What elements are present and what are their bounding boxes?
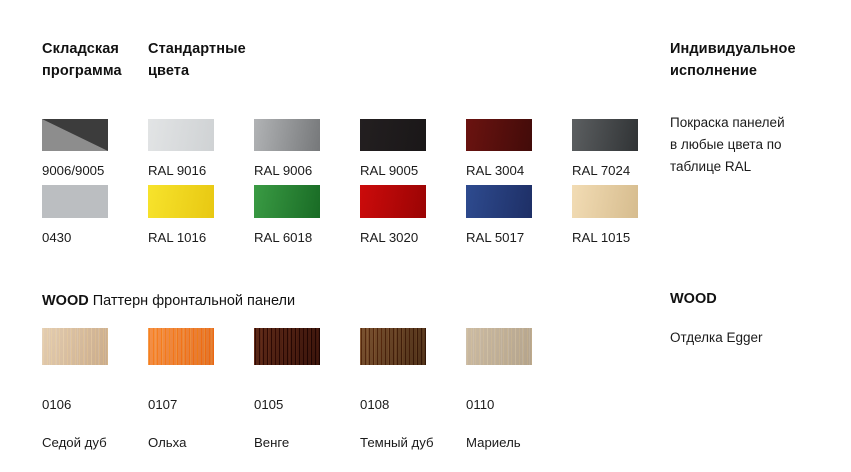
- color-chip-label: RAL 5017: [466, 228, 572, 247]
- color-chip[interactable]: [148, 185, 214, 218]
- wood-chip-name: Седой дуб: [42, 433, 148, 452]
- color-chip[interactable]: [572, 119, 638, 151]
- swatch-item[interactable]: RAL 3004: [466, 119, 572, 180]
- custom-execution-heading: Индивидуальное исполнение: [670, 38, 850, 83]
- wood-chip[interactable]: [148, 328, 214, 365]
- swatch-item[interactable]: 9006/9005: [42, 119, 148, 180]
- color-chip-label: RAL 9016: [148, 161, 254, 180]
- color-chip[interactable]: [42, 185, 108, 218]
- swatch-item[interactable]: RAL 7024: [572, 119, 678, 180]
- color-chip-label: RAL 3004: [466, 161, 572, 180]
- wood-swatch-row: 0106 Седой дуб 0107 Ольха 0105 Венге 010…: [42, 328, 572, 472]
- color-chip-label: RAL 9005: [360, 161, 466, 180]
- wood-right-heading: WOOD: [670, 291, 717, 307]
- wood-right-description: Отделка Egger: [670, 327, 850, 349]
- wood-chip-code: 0107: [148, 395, 254, 414]
- wood-swatch-item[interactable]: 0105 Венге: [254, 328, 360, 472]
- color-chip-label: 0430: [42, 228, 148, 247]
- swatch-item[interactable]: RAL 9016: [148, 119, 254, 180]
- color-chip-label: RAL 1016: [148, 228, 254, 247]
- wood-chip-code: 0108: [360, 395, 466, 414]
- wood-chip-name: Мариель: [466, 433, 572, 452]
- wood-swatch-item[interactable]: 0106 Седой дуб: [42, 328, 148, 472]
- wood-chip-name: Ольха: [148, 433, 254, 452]
- color-chip[interactable]: [466, 119, 532, 151]
- wood-chip-label: 0107 Ольха: [148, 376, 254, 472]
- wood-chip-code: 0110: [466, 395, 572, 414]
- color-chip-label: RAL 6018: [254, 228, 360, 247]
- wood-swatch-item[interactable]: 0108 Темный дуб: [360, 328, 466, 472]
- swatch-item[interactable]: 0430: [42, 185, 148, 247]
- color-chip-label: RAL 3020: [360, 228, 466, 247]
- wood-swatch-item[interactable]: 0110 Мариель: [466, 328, 572, 472]
- wood-chip-name: Венге: [254, 433, 360, 452]
- wood-chip-name: Темный дуб: [360, 433, 466, 452]
- wood-chip-label: 0110 Мариель: [466, 376, 572, 472]
- wood-chip-code: 0105: [254, 395, 360, 414]
- wood-heading-brand: WOOD: [42, 293, 89, 309]
- wood-chip-label: 0106 Седой дуб: [42, 376, 148, 472]
- color-chip[interactable]: [572, 185, 638, 218]
- color-chip-label: RAL 1015: [572, 228, 678, 247]
- wood-heading-text: Паттерн фронтальной панели: [89, 293, 295, 309]
- color-chip[interactable]: [148, 119, 214, 151]
- swatch-item[interactable]: RAL 9006: [254, 119, 360, 180]
- color-chip[interactable]: [466, 185, 532, 218]
- swatch-item[interactable]: RAL 1015: [572, 185, 678, 247]
- wood-chip[interactable]: [42, 328, 108, 365]
- color-chip[interactable]: [254, 119, 320, 151]
- wood-pattern-heading: WOOD Паттерн фронтальной панели: [42, 291, 295, 311]
- color-chip-label: RAL 9006: [254, 161, 360, 180]
- wood-chip-label: 0105 Венге: [254, 376, 360, 472]
- wood-chip[interactable]: [360, 328, 426, 365]
- color-chip-label: 9006/9005: [42, 161, 148, 180]
- color-swatch-row-1: 9006/9005 RAL 9016 RAL 9006 RAL 9005 RAL…: [42, 119, 678, 180]
- wood-chip[interactable]: [254, 328, 320, 365]
- standard-colors-heading: Стандартные цвета: [148, 38, 246, 83]
- color-swatch-row-2: 0430 RAL 1016 RAL 6018 RAL 3020 RAL 5017…: [42, 185, 678, 247]
- stock-program-heading: Складская программа: [42, 38, 148, 83]
- top-headings-group: Складская программа Стандартные цвета: [42, 38, 246, 83]
- color-chip[interactable]: [42, 119, 108, 151]
- swatch-item[interactable]: RAL 6018: [254, 185, 360, 247]
- wood-swatch-item[interactable]: 0107 Ольха: [148, 328, 254, 472]
- wood-chip[interactable]: [466, 328, 532, 365]
- swatch-item[interactable]: RAL 5017: [466, 185, 572, 247]
- swatch-item[interactable]: RAL 3020: [360, 185, 466, 247]
- custom-execution-description: Покраска панелей в любые цвета по таблиц…: [670, 112, 850, 178]
- wood-chip-label: 0108 Темный дуб: [360, 376, 466, 472]
- color-chip[interactable]: [254, 185, 320, 218]
- swatch-item[interactable]: RAL 1016: [148, 185, 254, 247]
- wood-chip-code: 0106: [42, 395, 148, 414]
- color-chip[interactable]: [360, 119, 426, 151]
- color-chip[interactable]: [360, 185, 426, 218]
- swatch-item[interactable]: RAL 9005: [360, 119, 466, 180]
- color-chip-label: RAL 7024: [572, 161, 678, 180]
- color-options-sheet: Складская программа Стандартные цвета Ин…: [0, 0, 851, 429]
